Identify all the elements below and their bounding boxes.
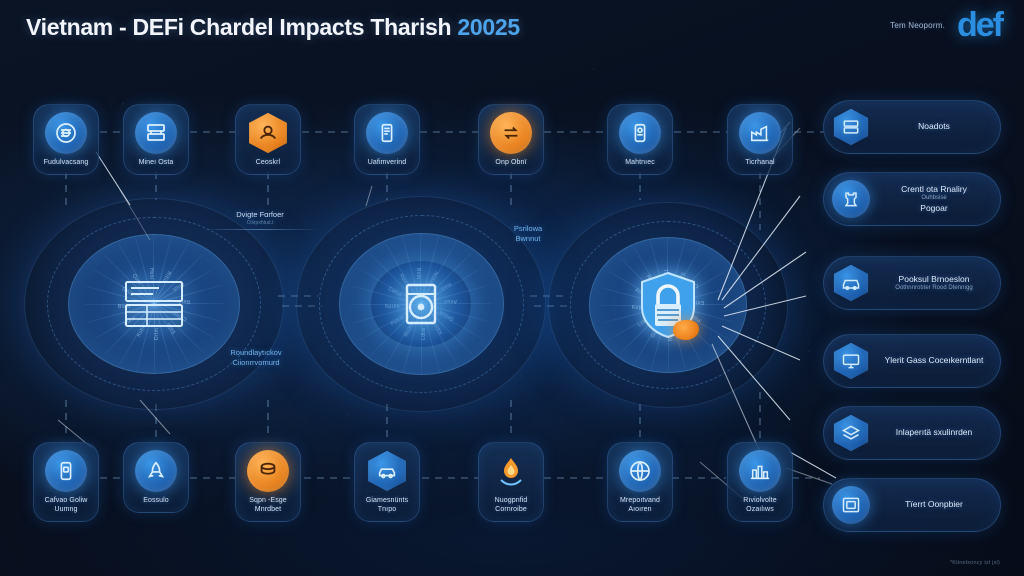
smartphone-wallet-icon — [45, 450, 87, 492]
panel-item-3-sub: Oothnnrotıter Rood Dtennıgg — [878, 285, 990, 293]
panel-item-2-title2: Pogoar — [920, 203, 947, 213]
brand-logo: Tem Neoporm. def — [890, 10, 1002, 41]
annotation-title: Dvigte Fɑrfoer — [236, 210, 284, 219]
annotation-hub2: Psrilowa Bwnnut — [480, 224, 576, 244]
coin-exchange-icon — [490, 112, 532, 154]
bottom-node-5-label: Nuogpnfid Cornroibe — [482, 497, 540, 515]
panel-item-1-label: Noadots — [878, 121, 990, 132]
layers-stack-icon — [832, 414, 870, 452]
hub-security[interactable]: TrnıcıoServCnıkEntıPolıScuıNavıGurdLckaK… — [548, 202, 788, 408]
panel-item-1[interactable]: Noadots — [823, 100, 1001, 154]
gear-disc-icon — [394, 277, 448, 331]
panel-item-4-label: Ylerit Gass Coceıkerntlant — [878, 355, 990, 366]
bottom-node-6[interactable]: Mrepoıtvand Aıoıren — [607, 442, 673, 522]
bottom-node-7[interactable]: Rıviolvolte Ozaılıws — [727, 442, 793, 522]
top-node-7-label: Ticrhanal — [745, 159, 774, 168]
logo-subtext: Tem Neoporm. — [890, 21, 945, 30]
top-node-5-label: Onp Obnï — [495, 159, 526, 168]
panel-item-6-label: Tïerrt Oonpbiеr — [878, 499, 990, 510]
hub-core — [102, 262, 206, 347]
top-node-2-label: Mineı Osta — [139, 159, 174, 168]
top-node-6[interactable]: Mahtnıec — [607, 104, 673, 175]
bottom-node-7-label: Rıviolvolte Ozaılıws — [731, 497, 789, 515]
annotation-rule — [200, 229, 320, 230]
factory-plant-icon — [739, 112, 781, 154]
panel-item-3[interactable]: Pooksul Brnoeslon Oothnnrotıter Rood Dte… — [823, 256, 1001, 310]
logo-wordmark: def — [957, 10, 1002, 41]
panel-item-2-sub: Ouhbsise — [878, 195, 990, 203]
annotation-sub: Ctiirpxhtud.t — [200, 220, 320, 227]
globe-network-icon — [619, 450, 661, 492]
top-node-6-label: Mahtnıec — [625, 159, 655, 168]
rocket-launch-icon — [135, 450, 177, 492]
bottom-node-1-label: Cafvao Goliw Uumng — [37, 497, 95, 515]
annotation-title: Psrilowa — [514, 224, 542, 233]
bottom-node-1[interactable]: Cafvao Goliw Uumng — [33, 442, 99, 522]
panel-item-2[interactable]: Crentl ota Rnaliry Ouhbsise Pogoar — [823, 172, 1001, 226]
annotation-hub1-bottom: Roundlaytıckov Ciionrrvomurd — [196, 348, 316, 368]
cityscape-icon — [739, 450, 781, 492]
monitor-screen-icon — [832, 342, 870, 380]
annotation-hub1-top: Dvigte Fɑrfoer Ctiirpxhtud.t — [200, 210, 320, 230]
top-node-1[interactable]: Fudulvacsang — [33, 104, 99, 175]
top-node-7[interactable]: Ticrhanal — [727, 104, 793, 175]
panel-item-3-label: Pooksul Brnoeslon Oothnnrotıter Rood Dte… — [878, 274, 990, 293]
hand-coin-icon — [247, 112, 289, 154]
flame-icon — [490, 450, 532, 492]
footnote-text: *Ktinelxoncy tzl jsl) — [950, 560, 1000, 566]
document-table-icon — [123, 279, 185, 329]
top-node-5[interactable]: Onp Obnï — [478, 104, 544, 175]
top-node-4[interactable]: Uafimverind — [354, 104, 420, 175]
bottom-node-4-label: Giamesnünts Tnıpo — [358, 497, 416, 515]
top-node-3[interactable]: Ceoskrl — [235, 104, 301, 175]
panel-item-6[interactable]: Tïerrt Oonpbiеr — [823, 478, 1001, 532]
page-title-main: Vietnam - DEFi Chardel Impacts Tharish — [26, 14, 451, 40]
annotation-title: Roundlaytıckov — [230, 348, 281, 357]
top-node-4-label: Uafimverind — [368, 159, 406, 168]
panel-item-5[interactable]: Inlaperıtä sxulinrden — [823, 406, 1001, 460]
chess-rook-icon — [832, 180, 870, 218]
bottom-node-2[interactable]: Eossulo — [123, 442, 189, 513]
blockchain-circle-icon — [45, 112, 87, 154]
top-node-2[interactable]: Mineı Osta — [123, 104, 189, 175]
top-node-1-label: Fudulvacsang — [44, 159, 89, 168]
panel-item-3-title: Pooksul Brnoeslon — [899, 274, 970, 284]
car-hex-icon — [832, 264, 870, 302]
hub-core — [620, 264, 716, 346]
panel-item-5-label: Inlaperıtä sxulinrden — [878, 427, 990, 438]
bottom-node-2-label: Eossulo — [143, 497, 169, 506]
header-bar: Vietnam - DEFi Chardel Impacts Tharish 2… — [0, 0, 1024, 62]
top-node-3-label: Ceoskrl — [256, 159, 280, 168]
database-rack-icon — [135, 112, 177, 154]
page-title: Vietnam - DEFi Chardel Impacts Tharish 2… — [26, 14, 520, 41]
server-tower-icon — [366, 112, 408, 154]
annotation-sub: Ciionrrvomurd — [196, 358, 316, 368]
mobile-chip-icon — [619, 112, 661, 154]
bottom-node-3[interactable]: Sqpn -Esge Mnrdbet — [235, 442, 301, 522]
panel-item-4[interactable]: Ylerit Gass Coceıkerntlant — [823, 334, 1001, 388]
infographic-canvas: Vietnam - DEFi Chardel Impacts Tharish 2… — [0, 0, 1024, 576]
server-hex-icon — [832, 108, 870, 146]
bottom-node-5[interactable]: Nuogpnfid Cornroibe — [478, 442, 544, 522]
bottom-node-3-label: Sqpn -Esge Mnrdbet — [239, 497, 297, 515]
shield-vehicle-icon — [366, 450, 408, 492]
bottom-node-4[interactable]: Giamesnünts Tnıpo — [354, 442, 420, 522]
hub-core — [371, 261, 471, 347]
computer-box-icon — [832, 486, 870, 524]
bottom-node-6-label: Mrepoıtvand Aıoıren — [611, 497, 669, 515]
coin-stack-icon — [247, 450, 289, 492]
panel-item-2-title: Crentl ota Rnaliry — [901, 184, 967, 194]
annotation-sub: Bwnnut — [480, 234, 576, 244]
panel-item-2-label: Crentl ota Rnaliry Ouhbsise Pogoar — [878, 184, 990, 214]
page-title-year: 20025 — [457, 14, 519, 40]
